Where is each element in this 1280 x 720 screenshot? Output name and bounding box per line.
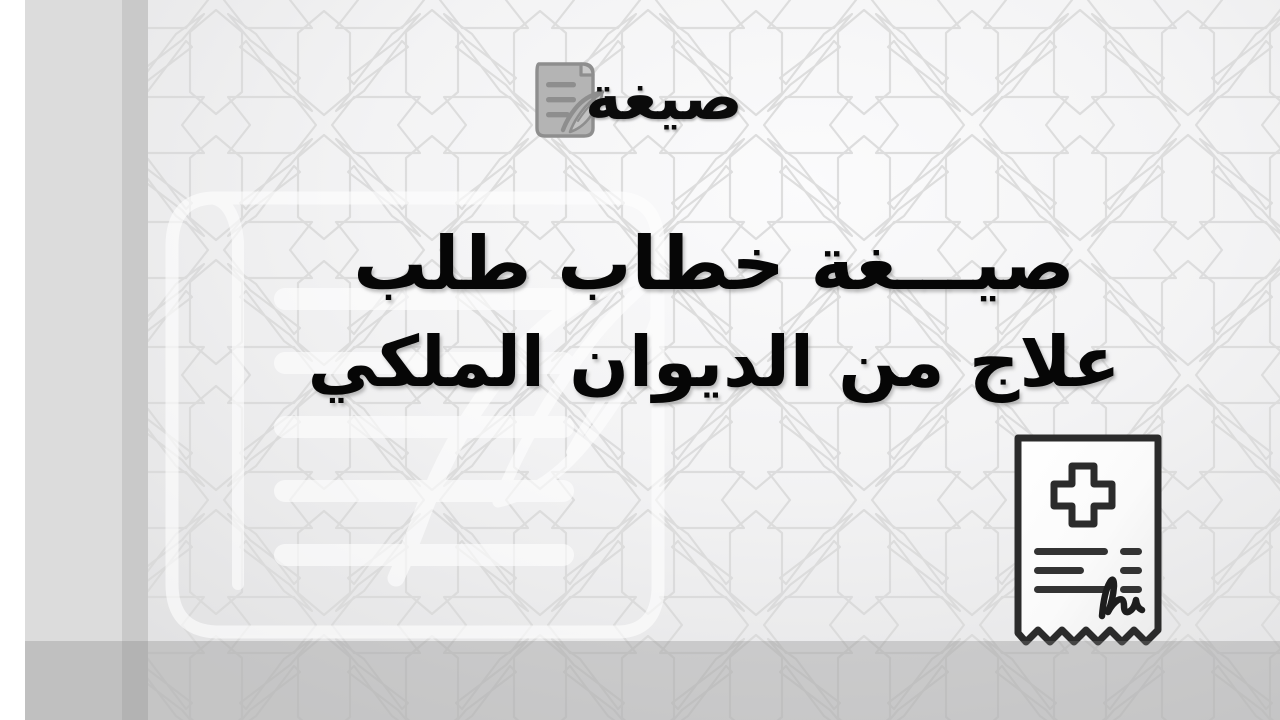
slide-canvas: صيغة صيـــغة خطاب طلب علاج من الديوان ال… [0,0,1280,720]
page-title-line-2: علاج من الديوان الملكي [148,325,1280,399]
brand-wordmark: صيغة [585,67,743,129]
medical-receipt-icon [1008,430,1168,662]
left-light-band [25,0,122,720]
brand-logo: صيغة [523,52,757,144]
bottom-bar-left-strip [0,641,25,720]
page-title: صيـــغة خطاب طلب علاج من الديوان الملكي [148,225,1280,400]
left-white-strip [0,0,25,720]
left-dark-band [122,0,148,720]
bottom-overlay-bar [0,641,1280,720]
page-title-line-1: صيـــغة خطاب طلب [148,225,1280,303]
